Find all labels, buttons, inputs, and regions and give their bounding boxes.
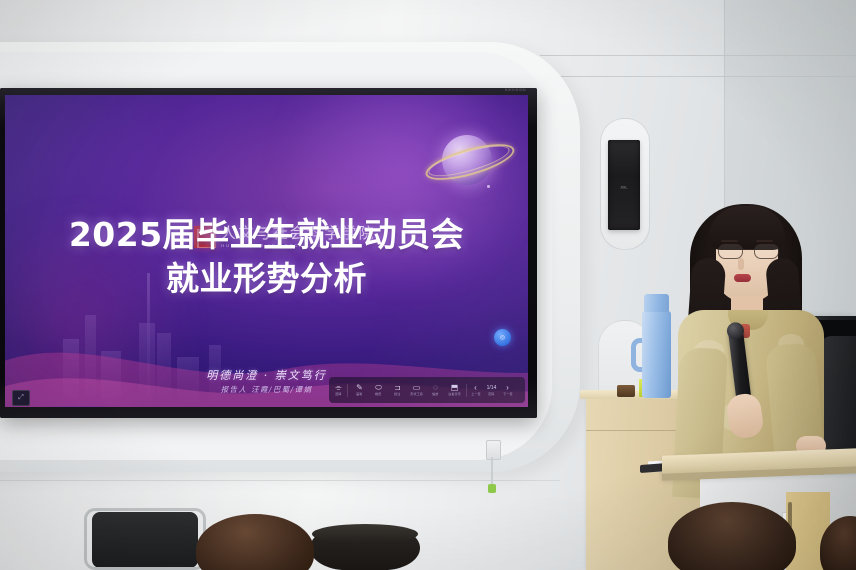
interactive-display[interactable]: 人文与社会科学学院 HUMANITIES AND SOCIAL SCIENCES…: [0, 88, 537, 418]
screen-corner-icon[interactable]: ⤢: [12, 390, 30, 406]
classroom-chair: [84, 508, 206, 570]
blue-thermos: [640, 294, 673, 398]
toolbar-label-0: 选择: [335, 393, 341, 396]
toolbar-item-3[interactable]: ⊐ 批注: [388, 384, 407, 396]
toolbar-page-indicator: 1/14 页码: [482, 384, 501, 396]
display-screen[interactable]: 人文与社会科学学院 HUMANITIES AND SOCIAL SCIENCES…: [5, 95, 528, 407]
toolbar-next-page[interactable]: › 下一页: [501, 384, 514, 396]
floor-cable-outlet: [486, 440, 500, 492]
toolbar-label-9: 下一页: [503, 393, 512, 396]
eyebrow-left: [721, 240, 738, 242]
chevron-right-icon: ›: [506, 384, 509, 392]
toolbar-icon-3: ⊐: [394, 384, 401, 392]
toolbar-item-5[interactable]: ◌ 缩放: [426, 384, 445, 396]
toolbar-item-6[interactable]: ⬒ 白板背景: [445, 384, 464, 396]
display-brand-badge: HIKVISION: [505, 88, 526, 92]
toolbar-label-1: 画笔: [356, 393, 362, 396]
speaker-brand-badge: JBL: [620, 184, 628, 189]
wall-seam-top-2: [540, 76, 856, 77]
eyebrow-right: [756, 240, 773, 242]
toolbar-item-1[interactable]: ✎ 画笔: [350, 384, 369, 396]
cabinet-object-dark: [617, 385, 635, 397]
toolbar-icon-0: ⌯: [335, 384, 341, 392]
toolbar-item-4[interactable]: ▭ 形状工具: [407, 384, 426, 396]
toolbar-icon-2: ⬭: [375, 384, 382, 392]
wall-seam-top: [540, 55, 856, 56]
wall-seam-low: [0, 480, 560, 481]
page-indicator-value: 1/14: [487, 384, 497, 392]
toolbar-label-5: 缩放: [432, 393, 438, 396]
toolbar-label-4: 形状工具: [410, 393, 422, 396]
toolbar-icon-1: ✎: [356, 384, 363, 392]
chevron-left-icon: ‹: [474, 384, 477, 392]
slide-title-line-2: 就业形势分析: [5, 252, 528, 300]
toolbar-icon-6: ⬒: [451, 384, 459, 392]
saturn-planet-icon: [425, 123, 511, 201]
screenshot-root: JBL: [0, 0, 856, 570]
toolbar-prev-page[interactable]: ‹ 上一页: [469, 384, 482, 396]
toolbar-item-2[interactable]: ⬭ 橡皮: [369, 384, 388, 396]
stool-top: [312, 524, 418, 544]
wall-speaker: JBL: [608, 140, 640, 230]
toolbar-label-6: 白板背景: [448, 393, 460, 396]
toolbar-divider-2: [466, 384, 467, 397]
glasses-icon: [717, 244, 779, 258]
toolbar-divider-1: [347, 384, 348, 397]
toolbar-label-3: 批注: [394, 393, 400, 396]
lips: [734, 274, 751, 282]
nose: [738, 258, 744, 270]
slide-title-line-1: 2025届毕业生就业动员会: [5, 208, 528, 256]
toolbar-icon-4: ▭: [413, 384, 421, 392]
whiteboard-toolbar[interactable]: ⌯ 选择 ✎ 画笔 ⬭ 橡皮 ⊐ 批注 ▭ 形状工具: [329, 377, 525, 403]
toolbar-item-0[interactable]: ⌯ 选择: [332, 384, 345, 396]
toolbar-icon-5: ◌: [433, 384, 438, 392]
toolbar-label-8: 页码: [488, 393, 494, 396]
toolbar-label-2: 橡皮: [375, 393, 381, 396]
toolbar-label-7: 上一页: [471, 393, 480, 396]
assistant-icon[interactable]: ◎: [494, 329, 511, 346]
